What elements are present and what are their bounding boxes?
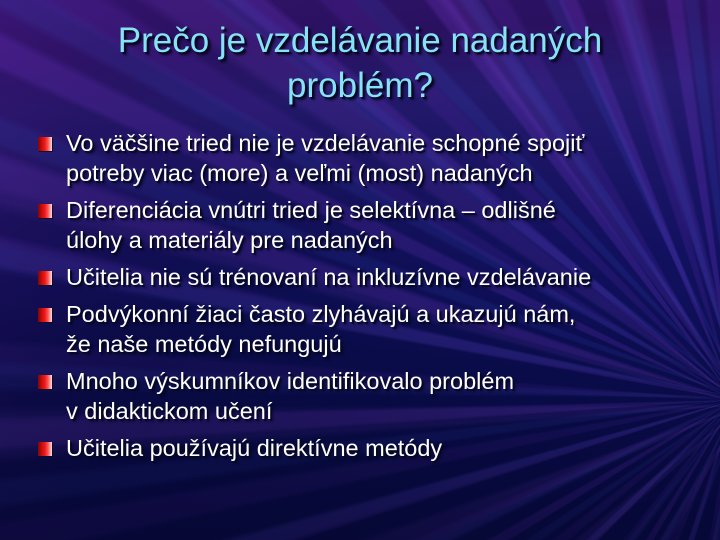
bullet-list: Vo väčšine tried nie je vzdelávanie scho… [38, 128, 702, 470]
red-square-bullet-icon [38, 137, 52, 151]
list-item-text: Diferenciácia vnútri tried je selektívna… [66, 195, 702, 255]
slide-content: Prečo je vzdelávanie nadaných problém? V… [0, 0, 720, 540]
slide-title: Prečo je vzdelávanie nadaných problém? [40, 18, 680, 108]
red-square-bullet-icon [38, 375, 52, 389]
red-square-bullet-icon [38, 442, 52, 456]
red-square-bullet-icon [38, 271, 52, 285]
list-item: Mnoho výskumníkov identifikovalo problém… [38, 366, 702, 426]
red-square-bullet-icon [38, 204, 52, 218]
list-item-text: Vo väčšine tried nie je vzdelávanie scho… [66, 128, 702, 188]
list-item: Diferenciácia vnútri tried je selektívna… [38, 195, 702, 255]
list-item-text: Podvýkonní žiaci často zlyhávajú a ukazu… [66, 299, 702, 359]
list-item-text: Učitelia nie sú trénovaní na inkluzívne … [66, 262, 702, 292]
presentation-slide: Prečo je vzdelávanie nadaných problém? V… [0, 0, 720, 540]
list-item: Učitelia nie sú trénovaní na inkluzívne … [38, 262, 702, 292]
list-item: Vo väčšine tried nie je vzdelávanie scho… [38, 128, 702, 188]
list-item: Podvýkonní žiaci často zlyhávajú a ukazu… [38, 299, 702, 359]
red-square-bullet-icon [38, 308, 52, 322]
list-item-text: Mnoho výskumníkov identifikovalo problém… [66, 366, 702, 426]
list-item-text: Učitelia používajú direktívne metódy [66, 433, 702, 463]
list-item: Učitelia používajú direktívne metódy [38, 433, 702, 463]
